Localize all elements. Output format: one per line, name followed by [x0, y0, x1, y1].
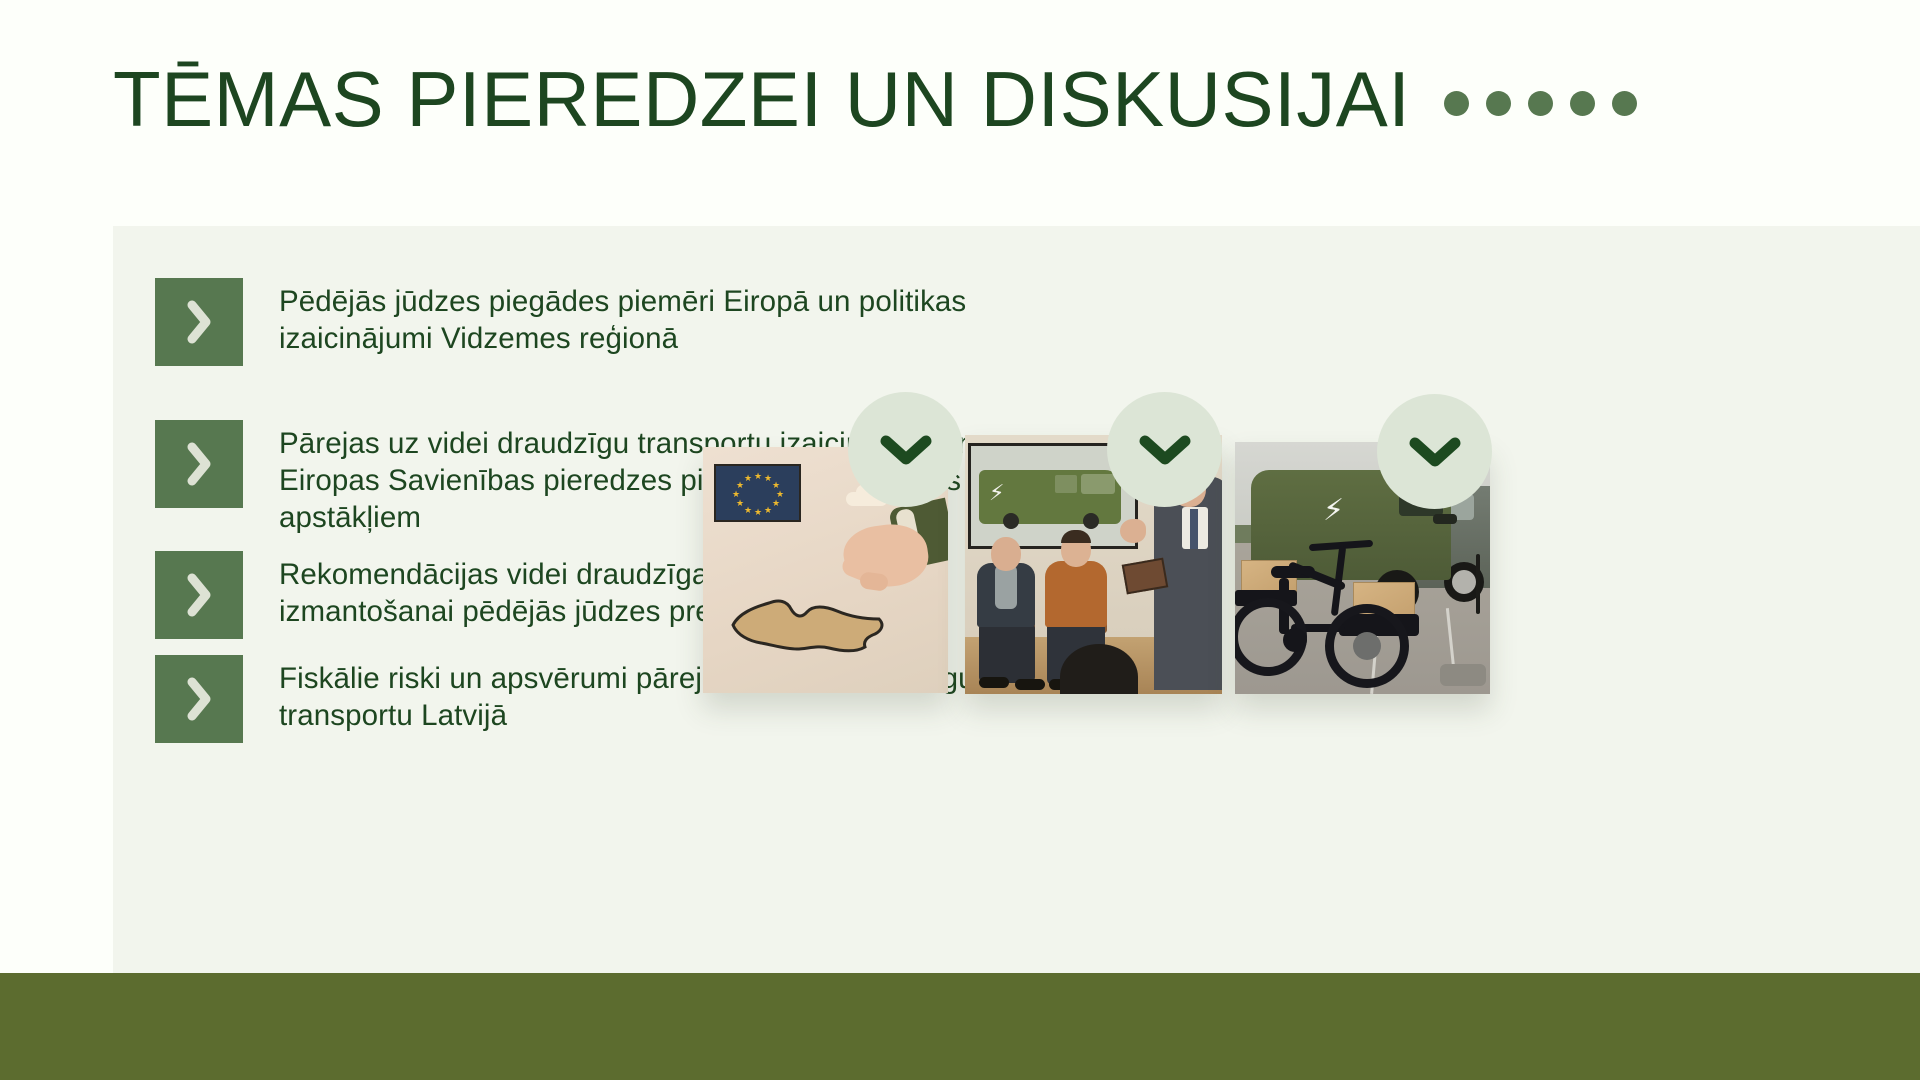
- chevron-right-icon: [155, 278, 243, 366]
- list-item[interactable]: Pēdējās jūdzes piegādes piemēri Eiropā u…: [155, 278, 1015, 366]
- chevron-down-icon: [880, 433, 932, 467]
- chevron-down-icon: [1409, 435, 1461, 469]
- shoe-2: [1015, 679, 1045, 690]
- van-windshield: [1081, 474, 1115, 494]
- van-wheel-rear: [1003, 513, 1019, 529]
- dot-5: [1612, 91, 1637, 116]
- brake-disc: [1353, 632, 1381, 660]
- green-van-illustration: ⚡: [979, 470, 1121, 524]
- lightning-bolt-icon: ⚡: [1323, 496, 1344, 526]
- seated-man-1-legs: [979, 625, 1035, 683]
- list-item-label: Pēdējās jūdzes piegādes piemēri Eiropā u…: [279, 278, 1015, 358]
- chevron-right-icon: [155, 655, 243, 743]
- dot-3: [1528, 91, 1553, 116]
- lightning-bolt-icon: ⚡: [989, 482, 1004, 504]
- second-van-rim: [1452, 570, 1476, 594]
- kerb-stone: [1440, 664, 1486, 686]
- presenter-tie: [1190, 509, 1198, 549]
- van-wheel-front: [1083, 513, 1099, 529]
- dot-1: [1444, 91, 1469, 116]
- bike-crank: [1283, 628, 1307, 652]
- presenter-raised-hand: [1120, 519, 1146, 543]
- seated-man-1-head: [991, 537, 1021, 571]
- van-side-window: [1055, 475, 1077, 493]
- chevron-right-icon: [155, 551, 243, 639]
- charging-cable: [1476, 554, 1480, 614]
- decorative-dots: [1444, 91, 1637, 116]
- shoe-1: [979, 677, 1009, 688]
- page-title: TĒMAS PIEREDZEI UN DISKUSIJAI: [113, 60, 1410, 138]
- dot-2: [1486, 91, 1511, 116]
- seated-man-2-torso: [1045, 561, 1107, 627]
- chevron-down-icon: [1139, 433, 1191, 467]
- chevron-down-badge-1[interactable]: [848, 392, 963, 507]
- chevron-right-icon: [155, 420, 243, 508]
- seated-man-1-shirt: [995, 565, 1017, 609]
- dot-4: [1570, 91, 1595, 116]
- side-mirror: [1433, 514, 1457, 524]
- title-row: TĒMAS PIEREDZEI UN DISKUSIJAI: [113, 60, 1637, 138]
- chevron-down-badge-3[interactable]: [1377, 394, 1492, 509]
- latvia-map-cutout: [729, 579, 889, 657]
- footer-bar: [0, 973, 1920, 1080]
- chevron-down-badge-2[interactable]: [1107, 392, 1222, 507]
- eu-flag-icon: ★ ★ ★ ★ ★ ★ ★ ★ ★ ★ ★ ★: [714, 464, 801, 522]
- photo-gallery: ★ ★ ★ ★ ★ ★ ★ ★ ★ ★ ★ ★: [703, 392, 1503, 722]
